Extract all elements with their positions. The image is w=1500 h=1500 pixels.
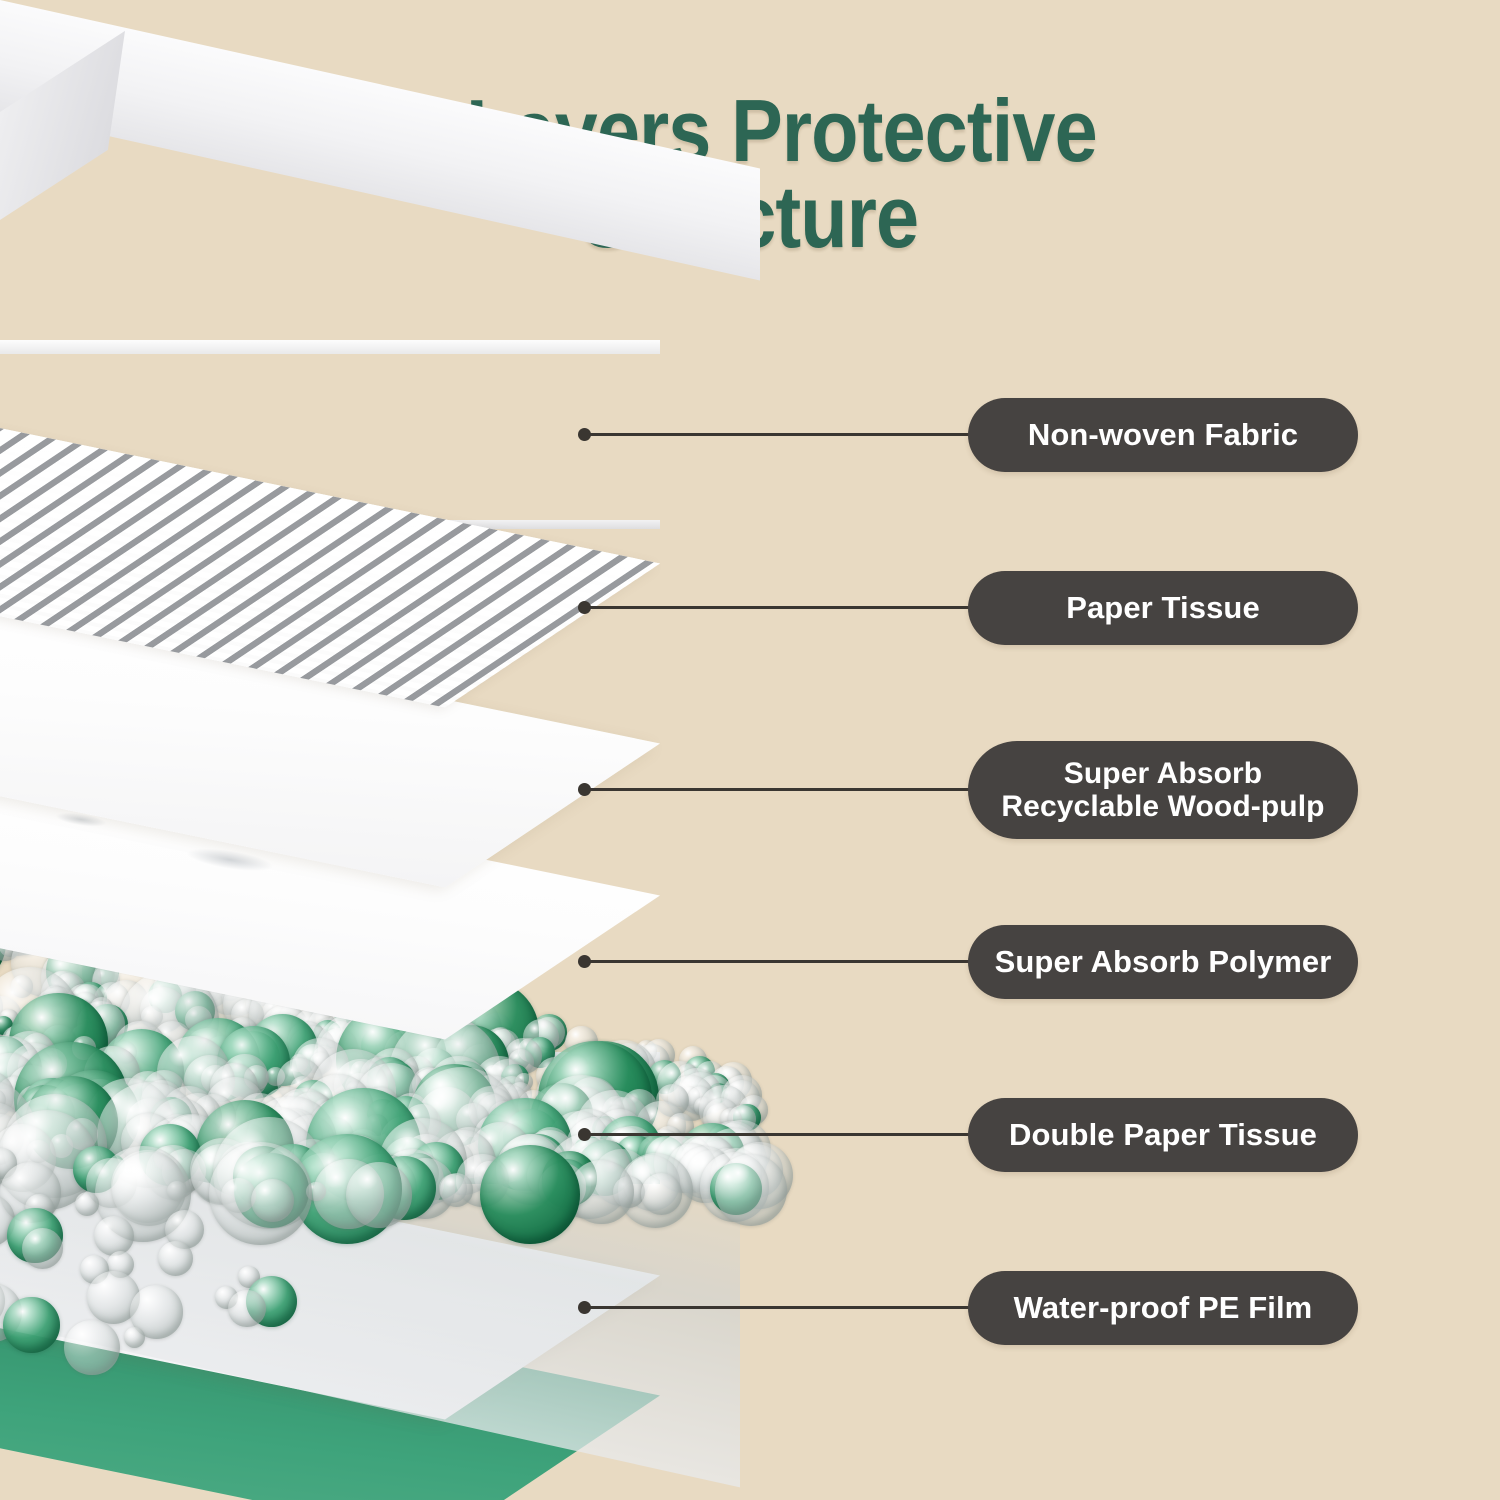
label-paper-tissue[interactable]: Paper Tissue <box>968 571 1358 645</box>
gel-bead <box>124 1327 145 1348</box>
layer-structure-infographic: 6 Layers Protective Structure Non-woven … <box>0 0 1500 1500</box>
gel-bead <box>22 1228 64 1270</box>
label-water-proof-pe-film[interactable]: Water-proof PE Film <box>968 1271 1358 1345</box>
label-super-absorb-recyclable-wood-pulp[interactable]: Super Absorb Recyclable Wood-pulp <box>968 741 1358 839</box>
label-non-woven-fabric[interactable]: Non-woven Fabric <box>968 398 1358 472</box>
gel-bead <box>641 1173 683 1215</box>
layer-non-woven-fabric-edge <box>0 340 660 354</box>
label-double-paper-tissue[interactable]: Double Paper Tissue <box>968 1098 1358 1172</box>
gel-bead <box>3 1297 60 1354</box>
gel-bead <box>480 1145 580 1245</box>
gel-bead <box>75 1192 99 1216</box>
gel-bead <box>158 1241 193 1276</box>
gel-bead <box>94 1216 134 1256</box>
leader-line <box>588 1133 1008 1136</box>
leader-line <box>588 788 1008 791</box>
leader-line <box>588 1306 1008 1309</box>
leader-line <box>588 433 1008 436</box>
leader-line <box>588 606 1008 609</box>
label-super-absorb-polymer[interactable]: Super Absorb Polymer <box>968 925 1358 999</box>
leader-line <box>588 960 1008 963</box>
gel-bead <box>715 1154 787 1226</box>
gel-bead <box>228 1290 265 1327</box>
gel-bead <box>64 1320 120 1376</box>
gel-bead <box>440 1173 474 1207</box>
gel-bead <box>346 1162 412 1228</box>
